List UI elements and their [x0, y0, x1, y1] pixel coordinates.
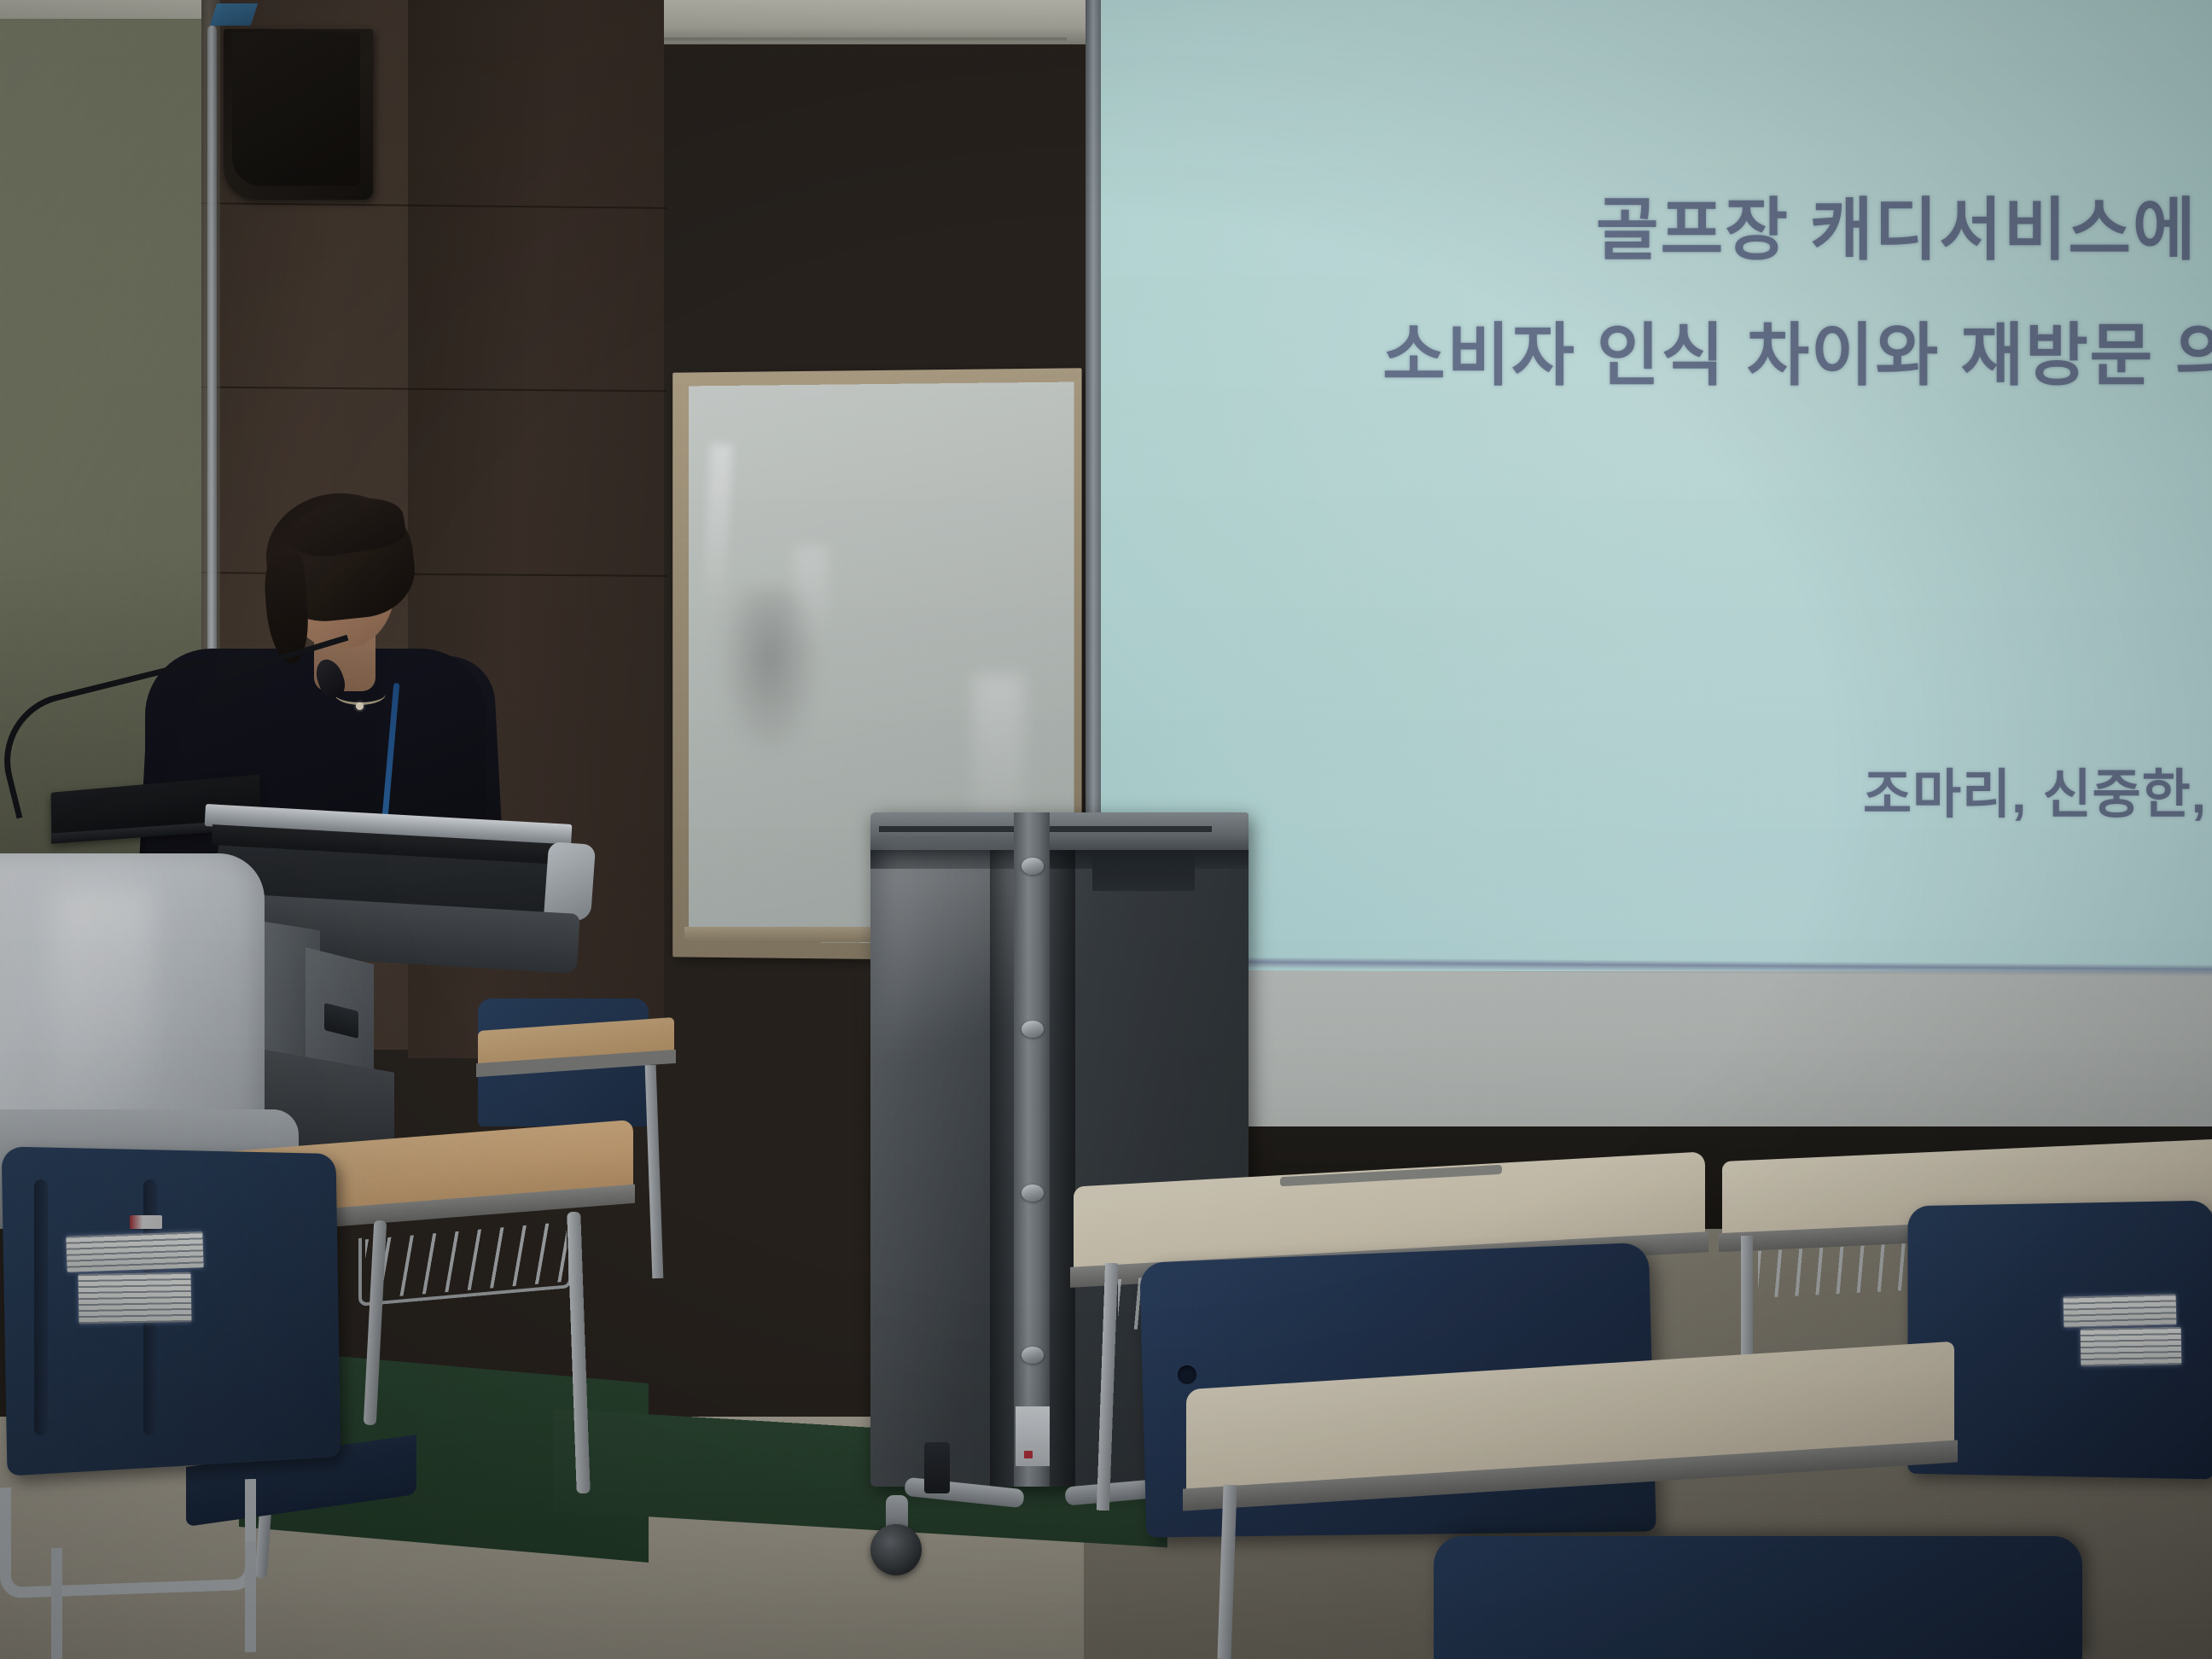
blue-tape-marker	[210, 3, 258, 26]
chair-sticker	[2064, 1294, 2177, 1327]
projection-screen-lower-fabric	[1100, 969, 2212, 1137]
chair-frame-lower	[51, 1541, 256, 1659]
av-cart-strip-shadow	[1050, 850, 1075, 1487]
av-cart-fastener	[1022, 1185, 1044, 1202]
av-cart-fastener	[1022, 1347, 1044, 1364]
chair-sticker-text	[79, 1272, 192, 1324]
slide-title-line-2: 소비자 인식 차이와 재방문 의도의	[1382, 300, 2212, 399]
av-cart-label-logo	[1024, 1451, 1033, 1458]
chair-back-rib	[34, 1179, 48, 1436]
chair-sticker-text	[66, 1231, 203, 1272]
caster-wheel	[870, 1524, 922, 1575]
av-cart-side-band	[1092, 850, 1195, 891]
chair-sticker-text	[2081, 1327, 2182, 1366]
loudspeaker-grille	[232, 32, 360, 186]
chair-sticker	[66, 1231, 203, 1272]
av-cart-support-post	[924, 1442, 950, 1493]
desk-rear-leg	[645, 1065, 664, 1278]
chair-sticker	[2081, 1327, 2182, 1366]
av-cart-fastener	[1022, 858, 1044, 875]
slide-title-line-1: 골프장 캐디서비스에	[1596, 175, 2197, 274]
av-cart-strip-shadow	[990, 850, 1014, 1487]
presenter-necklace-pendant	[356, 702, 364, 710]
whiteboard-reflection-shadow	[719, 589, 821, 760]
chair-back-foreground[interactable]	[1434, 1536, 2082, 1659]
chair-brand-sticker	[130, 1215, 162, 1229]
chair-handle-hole	[1178, 1365, 1196, 1384]
av-cart-center-strip	[1014, 812, 1050, 1487]
slide-author-line: 조마리, 신중한, 0	[1863, 751, 2212, 828]
chair-sticker	[79, 1272, 192, 1324]
classroom-presentation-photo: 골프장 캐디서비스에 소비자 인식 차이와 재방문 의도의 조마리, 신중한, …	[0, 0, 2212, 1659]
av-cart-top-surface	[870, 812, 1249, 852]
av-cart-fastener	[1022, 1021, 1044, 1038]
av-cart-label	[1016, 1406, 1050, 1466]
chair-sticker-text	[2064, 1294, 2177, 1327]
pillar-edge-trim	[207, 26, 217, 708]
lectern-corner-cap	[544, 841, 596, 922]
lectern-highlight	[51, 888, 154, 1109]
